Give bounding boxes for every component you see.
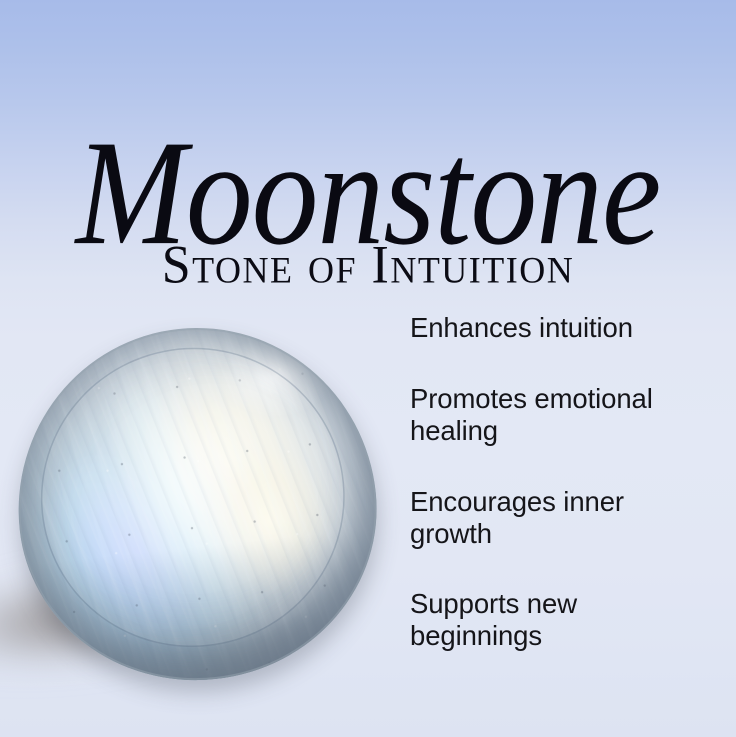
moonstone-infographic-poster: Moonstone Stone of Intuition Enhances in… [0,0,736,737]
benefit-item: Enhances intuition [410,312,710,344]
page-title: Moonstone [76,117,661,268]
page-subtitle: Stone of Intuition [162,239,575,293]
benefit-item: Promotes emotional healing [410,383,710,447]
moonstone-image [0,300,410,737]
moonstone-cabochon [1,310,394,697]
benefit-item: Encourages inner growth [410,486,710,550]
benefit-item: Supports new beginnings [410,588,710,652]
benefits-list: Enhances intuition Promotes emotional he… [410,312,710,652]
